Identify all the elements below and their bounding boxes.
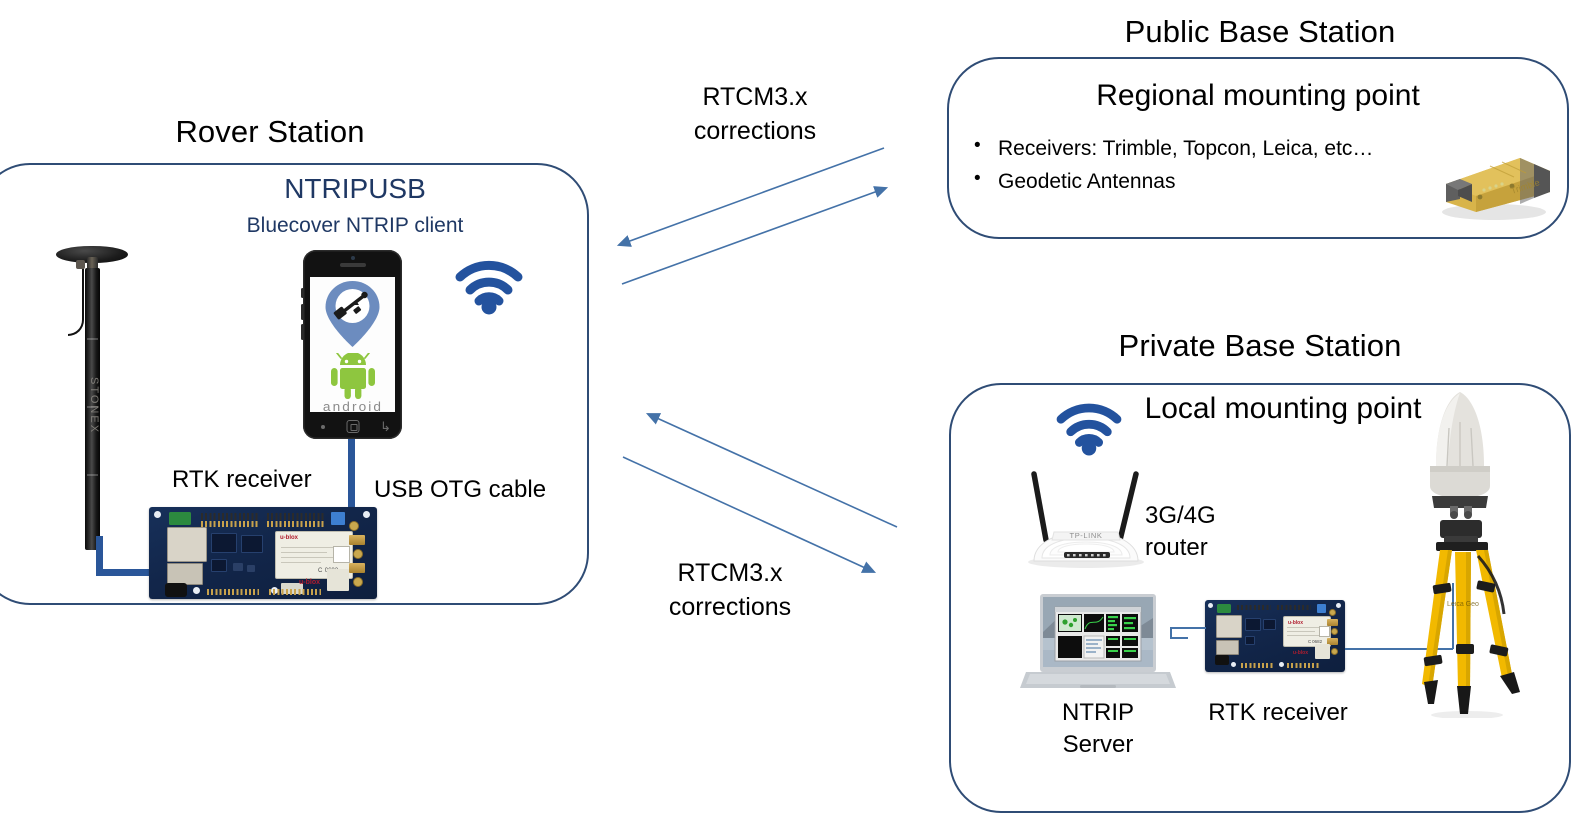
rtcm-bottom-line1: RTCM3.x [615, 556, 845, 590]
rtcm-bottom-line2: corrections [615, 590, 845, 624]
public-receiver-bullets: Receivers: Trimble, Topcon, Leica, etc… … [968, 132, 1373, 198]
android-wordmark: android [322, 399, 382, 412]
cable-laptop-to-board-v [1170, 627, 1172, 638]
wifi-icon [1053, 398, 1125, 456]
ntrip-server-label: NTRIP Server [1028, 697, 1168, 760]
list-item: Geodetic Antennas [968, 165, 1373, 198]
android-robot-icon [327, 353, 379, 404]
private-base-station-title: Private Base Station [950, 328, 1570, 364]
public-mounting-point-heading: Regional mounting point [947, 79, 1569, 113]
gnss-antenna-pole: STONEX [56, 246, 146, 556]
android-phone: android ↳ [303, 250, 402, 439]
rover-rtk-receiver-label: RTK receiver [172, 466, 312, 494]
ublox-module: u-blox C 0682 [1283, 616, 1331, 647]
phone-camera-icon [351, 256, 355, 260]
rover-app-subtitle: Bluecover NTRIP client [180, 214, 530, 238]
list-item: Receivers: Trimble, Topcon, Leica, etc… [968, 132, 1373, 165]
antenna-brand-label: STONEX [84, 351, 100, 461]
rtcm-top-line2: corrections [640, 114, 870, 148]
wifi-icon [452, 255, 526, 315]
trimble-receiver-image: Trimble [1424, 144, 1559, 224]
arrow-public-to-rover [619, 148, 884, 245]
rover-app-title: NTRIPUSB [180, 173, 530, 205]
rtcm-bottom-label: RTCM3.x corrections [615, 556, 845, 624]
phone-back-icon: ↳ [380, 420, 391, 433]
rover-rtk-board: u-blox C 0682 u-blox [149, 507, 377, 599]
private-rtk-board: u-blox C 0682 u-blox [1205, 600, 1345, 672]
cable-laptop-to-board [1170, 637, 1188, 639]
rtcm-top-line1: RTCM3.x [640, 80, 870, 114]
diagram-canvas: Public Base Station Regional mounting po… [0, 0, 1577, 805]
svg-text:Leica Geo: Leica Geo [1447, 601, 1479, 608]
arrow-private-to-rover [648, 414, 897, 527]
public-base-station-title: Public Base Station [950, 14, 1570, 50]
antenna-connector [76, 260, 85, 269]
tripod-antenna-image: Leica Geo [1378, 388, 1556, 718]
router-label: 3G/4G router [1145, 500, 1255, 563]
phone-speaker [340, 263, 366, 267]
arrow-rover-to-public [622, 188, 886, 284]
antenna-cable [68, 266, 84, 336]
arrow-rover-to-private [623, 457, 874, 572]
cable-laptop-to-board-h2 [1170, 627, 1206, 629]
rover-station-title: Rover Station [0, 114, 540, 150]
phone-screen: android [310, 277, 395, 412]
usb-otg-cable-label: USB OTG cable [374, 476, 546, 504]
phone-home-button [346, 420, 359, 433]
router-image: TP-LINK [1024, 462, 1154, 577]
ntrip-server-laptop [1018, 592, 1178, 694]
private-rtk-receiver-label: RTK receiver [1208, 697, 1348, 729]
rtcm-top-label: RTCM3.x corrections [640, 80, 870, 148]
svg-text:TP-LINK: TP-LINK [1070, 531, 1103, 540]
